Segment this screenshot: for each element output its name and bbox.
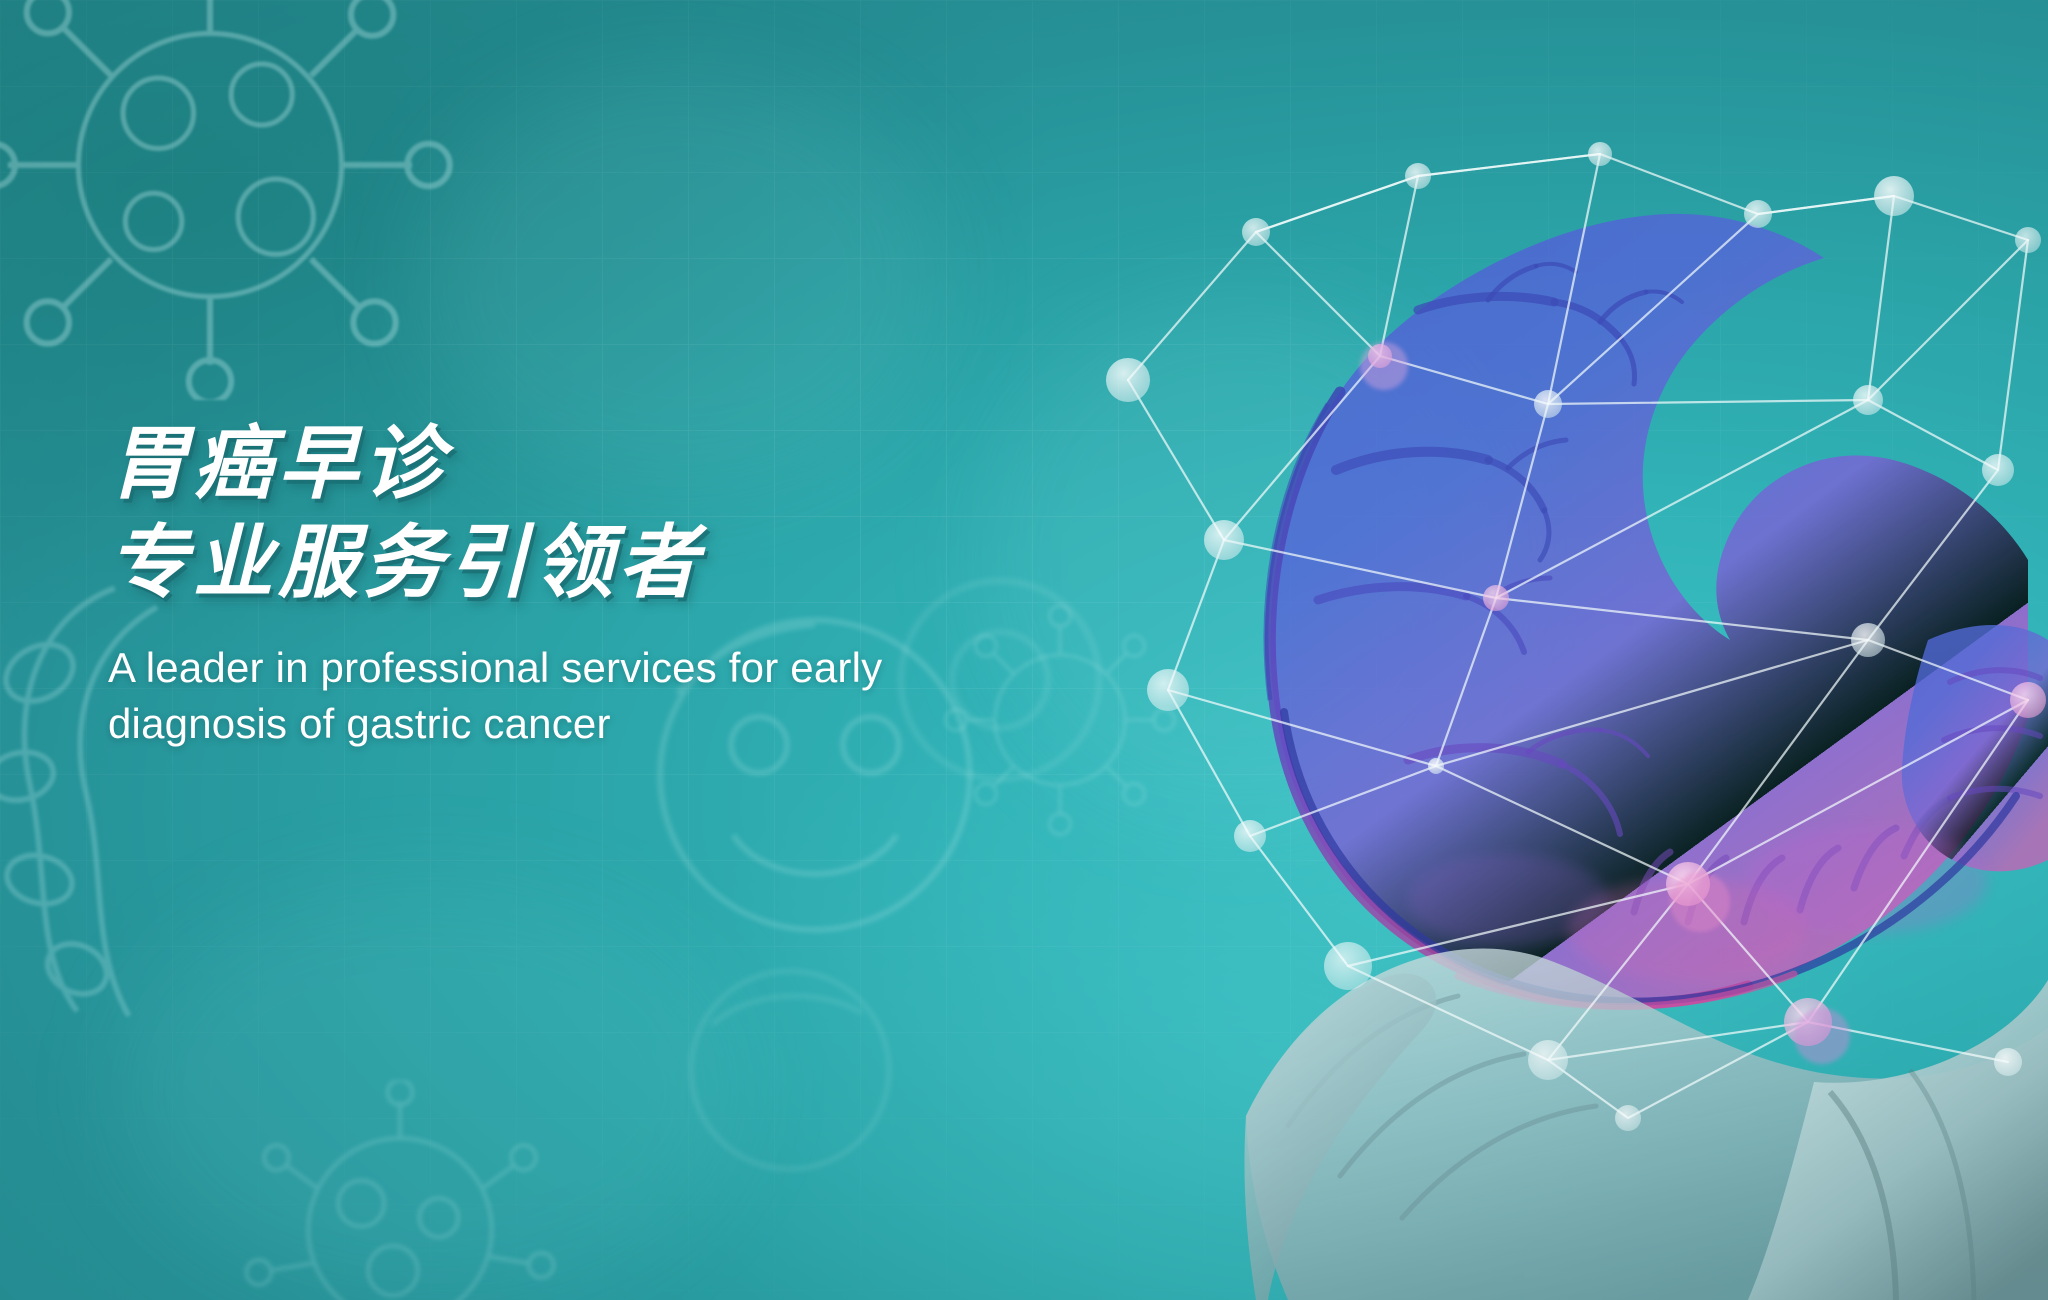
- cell-icon: [640, 920, 940, 1220]
- headline-line-2: 专业服务引领者: [108, 517, 1128, 610]
- subheadline-line-2: diagnosis of gastric cancer: [108, 696, 1118, 752]
- virus-icon: [220, 1080, 580, 1300]
- virus-icon: [0, 0, 480, 400]
- hero-copy: 胃癌早诊 专业服务引领者 A leader in professional se…: [108, 418, 1128, 752]
- subheadline: A leader in professional services for ea…: [108, 640, 1118, 753]
- headline-line-1: 胃癌早诊: [108, 418, 1128, 511]
- subheadline-line-1: A leader in professional services for ea…: [108, 640, 1118, 696]
- hero-banner: 胃癌早诊 专业服务引领者 A leader in professional se…: [0, 0, 2048, 1300]
